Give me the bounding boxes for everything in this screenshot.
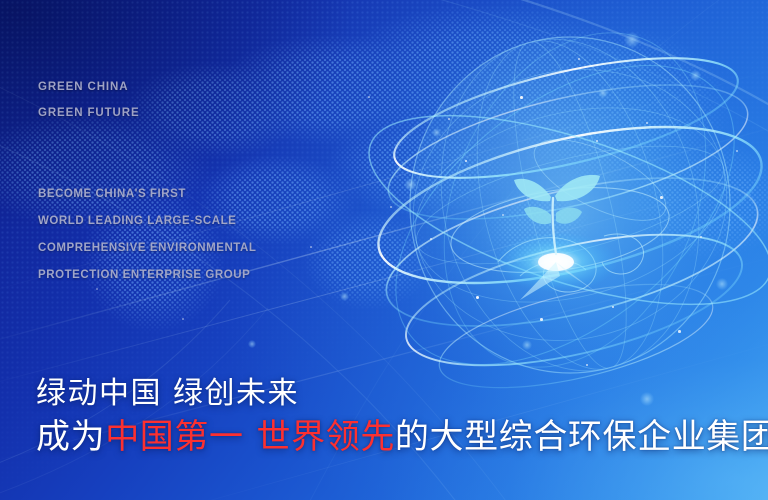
headline-main: 绿动中国 绿创未来 — [36, 368, 299, 412]
headline-sub: 成为中国第一世界领先的大型综合环保企业集团 — [36, 409, 768, 458]
eyebrow-line-1: GREEN CHINA — [38, 81, 128, 93]
mission-line-2: WORLD LEADING LARGE-SCALE — [38, 215, 236, 227]
hero-banner: GREEN CHINA GREEN FUTURE BECOME CHINA'S … — [0, 0, 768, 500]
mission-line-1: BECOME CHINA'S FIRST — [38, 188, 186, 200]
mission-line-3: COMPREHENSIVE ENVIRONMENTAL — [38, 242, 256, 254]
headline-accent-2: 世界领先 — [257, 417, 395, 457]
eyebrow-line-2: GREEN FUTURE — [38, 107, 140, 119]
mission-line-4: PROTECTION ENTERPRISE GROUP — [38, 269, 250, 281]
headline-sub-prefix: 成为 — [36, 417, 105, 457]
headline-accent-1: 中国第一 — [105, 417, 243, 457]
headline-sub-suffix: 的大型综合环保企业集团 — [395, 417, 768, 457]
